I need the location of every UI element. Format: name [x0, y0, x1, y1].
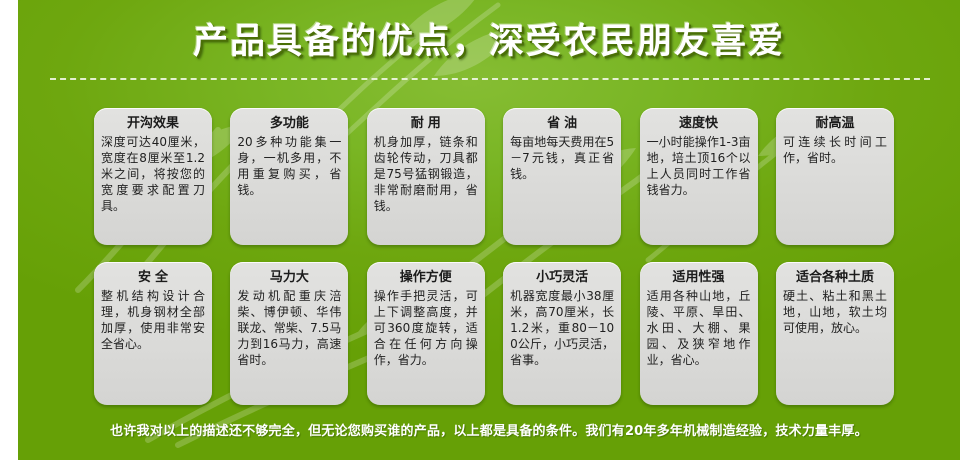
feature-card-row-2: 安全 整机结构设计合理，机身钢材全部加厚，使用非常安全省心。 马力大 发动机配重…: [94, 262, 894, 405]
feature-card-body: 硬土、粘土和黑土地，山地，软土均可使用，放心。: [783, 288, 887, 336]
feature-card-title: 适用性强: [647, 269, 751, 286]
feature-card[interactable]: 适合各种土质 硬土、粘土和黑土地，山地，软土均可使用，放心。: [776, 262, 894, 405]
feature-card-body: 20多种功能集一身，一机多用，不用重复购买，省钱。: [237, 134, 341, 198]
feature-card-title: 操作方便: [374, 269, 478, 286]
feature-card[interactable]: 耐高温 可连续长时间工作，省时。: [776, 108, 894, 245]
feature-card-body: 一小时能操作1-3亩地，培土顶16个以上人员同时工作省钱省力。: [647, 134, 751, 198]
feature-card-title: 开沟效果: [101, 115, 205, 132]
feature-card[interactable]: 小巧灵活 机器宽度最小38厘米，高70厘米，长1.2米，重80－100公斤，小巧…: [503, 262, 621, 405]
title-block: 产品具备的优点，深受农民朋友喜爱: [18, 20, 960, 64]
feature-card[interactable]: 开沟效果 深度可达40厘米，宽度在8厘米至1.2米之间，将按您的宽度要求配置刀具…: [94, 108, 212, 245]
feature-card-body: 深度可达40厘米，宽度在8厘米至1.2米之间，将按您的宽度要求配置刀具。: [101, 134, 205, 214]
feature-card[interactable]: 速度快 一小时能操作1-3亩地，培土顶16个以上人员同时工作省钱省力。: [640, 108, 758, 245]
feature-card-title: 耐高温: [783, 115, 887, 132]
feature-card[interactable]: 马力大 发动机配重庆涪柴、博伊顿、华伟联龙、常柴、7.5马力到16马力，高速省时…: [230, 262, 348, 405]
feature-card-title: 多功能: [237, 115, 341, 132]
page-title: 产品具备的优点，深受农民朋友喜爱: [193, 20, 785, 64]
feature-card-title: 适合各种土质: [783, 269, 887, 286]
feature-card-title: 马力大: [237, 269, 341, 286]
feature-card-row-1: 开沟效果 深度可达40厘米，宽度在8厘米至1.2米之间，将按您的宽度要求配置刀具…: [94, 108, 894, 245]
feature-card[interactable]: 省油 每亩地每天费用在5－7元钱，真正省钱。: [503, 108, 621, 245]
feature-card-title: 小巧灵活: [510, 269, 614, 286]
feature-card-title: 速度快: [647, 115, 751, 132]
green-background-panel: 产品具备的优点，深受农民朋友喜爱 开沟效果 深度可达40厘米，宽度在8厘米至1.…: [18, 0, 960, 460]
feature-card-body: 整机结构设计合理，机身钢材全部加厚，使用非常安全省心。: [101, 288, 205, 352]
feature-card[interactable]: 耐用 机身加厚，链条和齿轮传动，刀具都是75号猛钢锻造，非常耐磨耐用，省钱。: [367, 108, 485, 245]
footer-strip: 也许我对以上的描述还不够完全，但无论您购买谁的产品，以上都是具备的条件。我们有2…: [18, 408, 960, 460]
feature-card-title: 安全: [101, 269, 205, 286]
feature-card[interactable]: 适用性强 适用各种山地，丘陵、平原、旱田、水田、大棚、果园、及狭窄地作业，省心。: [640, 262, 758, 405]
feature-card[interactable]: 操作方便 操作手把灵活，可上下调整高度，并可360度旋转，适合在任何方向操作，省…: [367, 262, 485, 405]
feature-card-body: 可连续长时间工作，省时。: [783, 134, 887, 166]
feature-card[interactable]: 安全 整机结构设计合理，机身钢材全部加厚，使用非常安全省心。: [94, 262, 212, 405]
feature-card-title: 耐用: [374, 115, 478, 132]
feature-card-title: 省油: [510, 115, 614, 132]
feature-card-body: 发动机配重庆涪柴、博伊顿、华伟联龙、常柴、7.5马力到16马力，高速省时。: [237, 288, 341, 368]
promo-poster: 产品具备的优点，深受农民朋友喜爱 开沟效果 深度可达40厘米，宽度在8厘米至1.…: [0, 0, 980, 460]
feature-card-body: 机器宽度最小38厘米，高70厘米，长1.2米，重80－100公斤，小巧灵活，省事…: [510, 288, 614, 368]
feature-card-body: 适用各种山地，丘陵、平原、旱田、水田、大棚、果园、及狭窄地作业，省心。: [647, 288, 751, 368]
feature-card[interactable]: 多功能 20多种功能集一身，一机多用，不用重复购买，省钱。: [230, 108, 348, 245]
title-dashed-divider: [50, 78, 930, 80]
feature-card-body: 操作手把灵活，可上下调整高度，并可360度旋转，适合在任何方向操作，省力。: [374, 288, 478, 368]
feature-card-body: 每亩地每天费用在5－7元钱，真正省钱。: [510, 134, 614, 182]
feature-card-body: 机身加厚，链条和齿轮传动，刀具都是75号猛钢锻造，非常耐磨耐用，省钱。: [374, 134, 478, 214]
footer-note: 也许我对以上的描述还不够完全，但无论您购买谁的产品，以上都是具备的条件。我们有2…: [18, 422, 960, 442]
